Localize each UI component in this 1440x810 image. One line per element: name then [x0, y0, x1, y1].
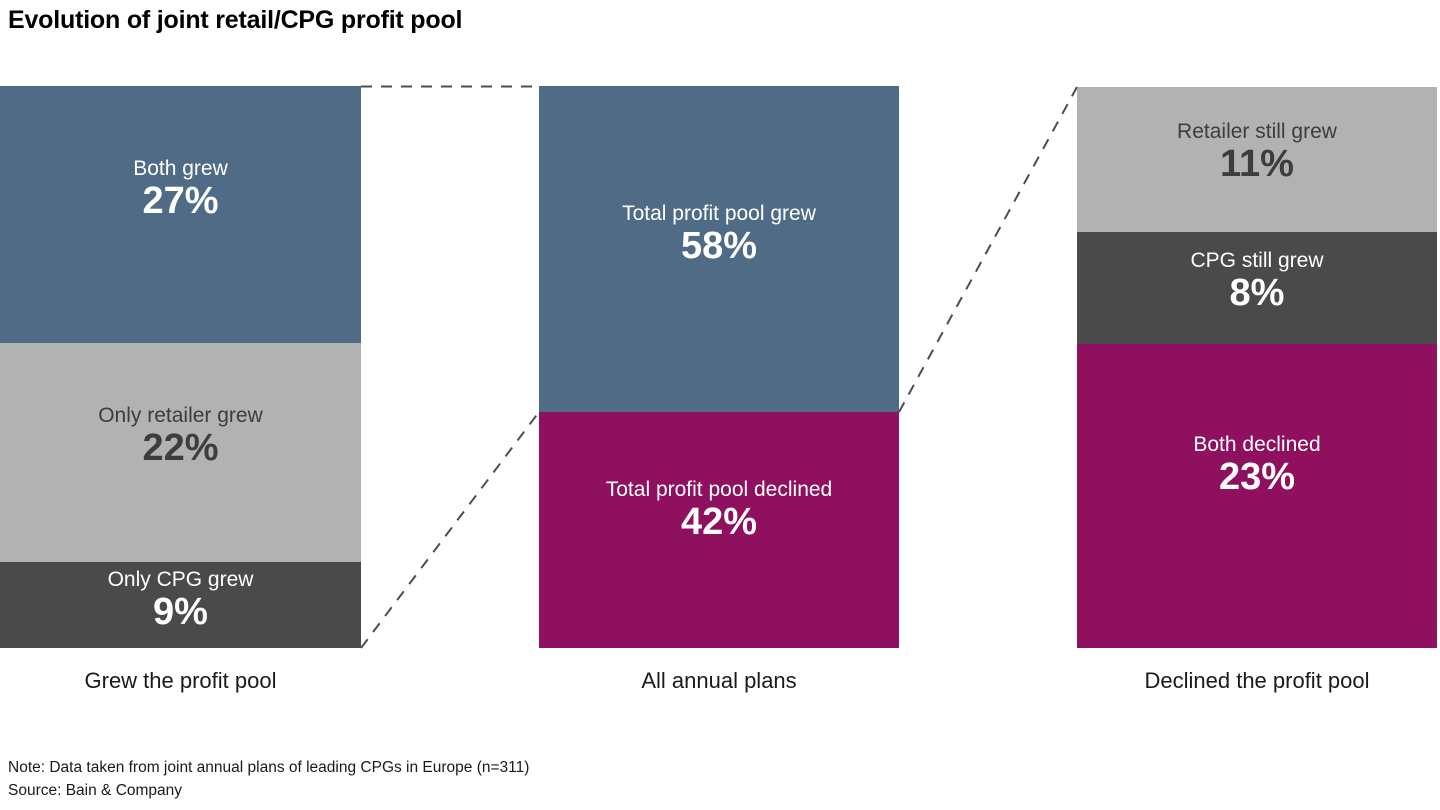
segment-cpg-still-grew[interactable]: CPG still grew 8%	[1077, 232, 1437, 344]
segment-only-retailer-grew[interactable]: Only retailer grew 22%	[0, 343, 361, 562]
segment-label: Only CPG grew	[108, 569, 254, 591]
chart-plot-area: Both grew 27% Only retailer grew 22% Onl…	[0, 0, 1440, 660]
stacked-column-all-annual-plans: Total profit pool grew 58% Total profit …	[539, 86, 899, 648]
segment-label: Both grew	[133, 158, 228, 180]
stacked-column-grew-the-profit-pool: Both grew 27% Only retailer grew 22% Onl…	[0, 86, 361, 648]
category-label-declined-the-profit-pool: Declined the profit pool	[1077, 668, 1437, 694]
segment-total-profit-pool-declined[interactable]: Total profit pool declined 42%	[539, 412, 899, 648]
category-label-grew-the-profit-pool: Grew the profit pool	[0, 668, 361, 694]
segment-label: Both declined	[1193, 434, 1320, 456]
segment-value: 22%	[142, 428, 218, 468]
segment-both-declined[interactable]: Both declined 23%	[1077, 344, 1437, 648]
connector-line-bottom-left	[361, 412, 539, 648]
segment-both-grew[interactable]: Both grew 27%	[0, 86, 361, 343]
segment-value: 27%	[142, 181, 218, 221]
segment-value: 11%	[1220, 144, 1294, 184]
segment-value: 9%	[153, 592, 208, 632]
connector-line-top-right	[899, 87, 1077, 412]
footnote-source: Source: Bain & Company	[8, 780, 529, 802]
footnote-note: Note: Data taken from joint annual plans…	[8, 757, 529, 779]
segment-label: Retailer still grew	[1177, 121, 1337, 143]
segment-value: 58%	[681, 226, 757, 266]
segment-label: CPG still grew	[1190, 250, 1323, 272]
category-label-all-annual-plans: All annual plans	[539, 668, 899, 694]
segment-label: Total profit pool grew	[622, 203, 816, 225]
segment-only-cpg-grew[interactable]: Only CPG grew 9%	[0, 562, 361, 648]
segment-value: 8%	[1230, 273, 1285, 313]
segment-value: 23%	[1219, 457, 1295, 497]
segment-label: Total profit pool declined	[606, 479, 832, 501]
segment-total-profit-pool-grew[interactable]: Total profit pool grew 58%	[539, 86, 899, 412]
footnotes: Note: Data taken from joint annual plans…	[8, 757, 529, 802]
segment-label: Only retailer grew	[98, 405, 263, 427]
stacked-column-declined-the-profit-pool: Retailer still grew 11% CPG still grew 8…	[1077, 87, 1437, 648]
segment-value: 42%	[681, 502, 757, 542]
segment-retailer-still-grew[interactable]: Retailer still grew 11%	[1077, 87, 1437, 232]
